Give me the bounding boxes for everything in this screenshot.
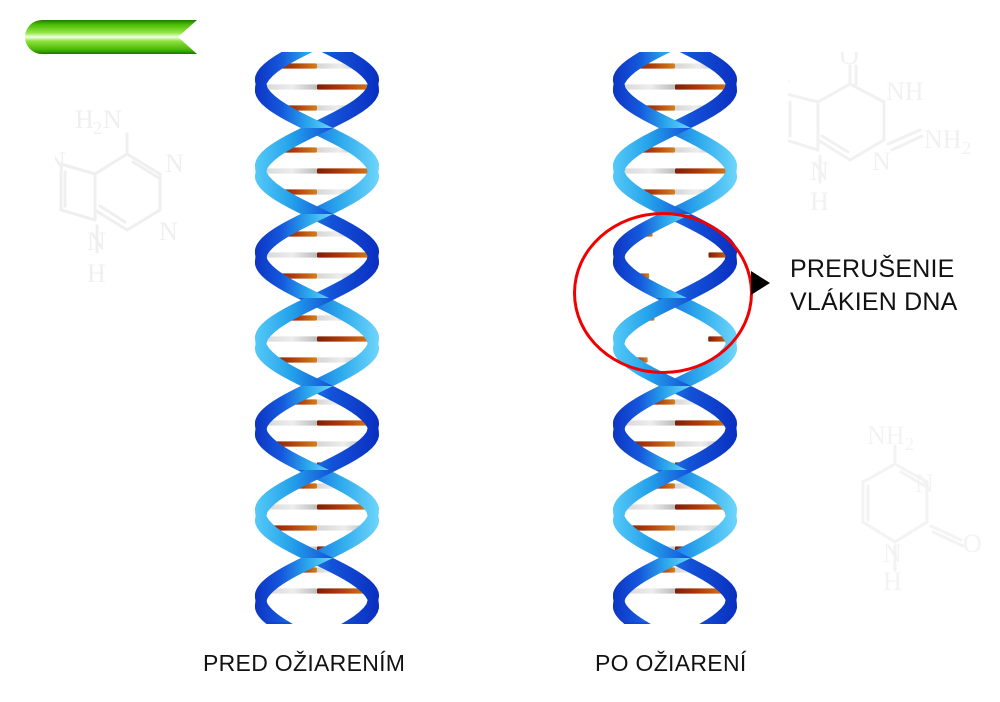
guanine-label-n: N: [872, 147, 891, 176]
ribbon-icon: [25, 20, 197, 54]
green-ribbon-banner: [25, 20, 197, 54]
guanine-label-sub2: 2: [962, 138, 971, 158]
adenine-structure-icon: H 2 N N N N N H: [55, 92, 235, 292]
cytosine-label-sub2: 2: [905, 434, 914, 454]
dna-double-helix-intact: [232, 52, 402, 624]
guanine-label-h: H: [810, 187, 829, 216]
cytosine-label-n2: N: [883, 539, 902, 568]
cytosine-label-n: N: [915, 469, 934, 498]
guanine-label-n2: N: [788, 75, 791, 104]
guanine-label-nh2: NH: [924, 125, 962, 154]
adenine-label-n5: N: [87, 227, 106, 256]
caption-before-irradiation: PRED OŽIARENÍM: [203, 650, 405, 677]
adenine-label-h2n: H: [75, 105, 94, 134]
cytosine-watermark: NH 2 N N H O: [845, 420, 995, 592]
cytosine-label-o: O: [963, 529, 982, 558]
guanine-label-nh: NH: [886, 77, 924, 106]
guanine-label-n3: N: [810, 157, 829, 186]
callout-line-1: PRERUŠENIE: [790, 253, 958, 286]
triangle-right-icon: [751, 271, 770, 295]
dna-helix-before: [232, 52, 402, 624]
adenine-label-sub2: 2: [93, 118, 102, 138]
guanine-label-o: O: [840, 52, 859, 70]
damage-highlight-circle: [573, 212, 753, 374]
guanine-watermark: O NH NH 2 N N N H: [788, 52, 988, 220]
guanine-structure-icon: O NH NH 2 N N N H: [788, 52, 988, 220]
callout-text: PRERUŠENIE VLÁKIEN DNA: [790, 253, 958, 319]
adenine-label-h: H: [87, 259, 106, 288]
caption-after-irradiation: PO OŽIARENÍ: [595, 650, 747, 677]
cytosine-label-h: H: [883, 567, 902, 592]
adenine-label-n: N: [103, 105, 122, 134]
adenine-label-n2: N: [165, 149, 184, 178]
callout-line-2: VLÁKIEN DNA: [790, 286, 958, 319]
adenine-label-n3: N: [159, 217, 178, 246]
adenine-watermark: H 2 N N N N N H: [55, 92, 235, 292]
cytosine-label-nh2: NH: [867, 421, 905, 450]
adenine-label-n4: N: [55, 147, 66, 176]
cytosine-structure-icon: NH 2 N N H O: [845, 420, 995, 592]
illustration-canvas: H 2 N N N N N H: [0, 0, 1000, 702]
